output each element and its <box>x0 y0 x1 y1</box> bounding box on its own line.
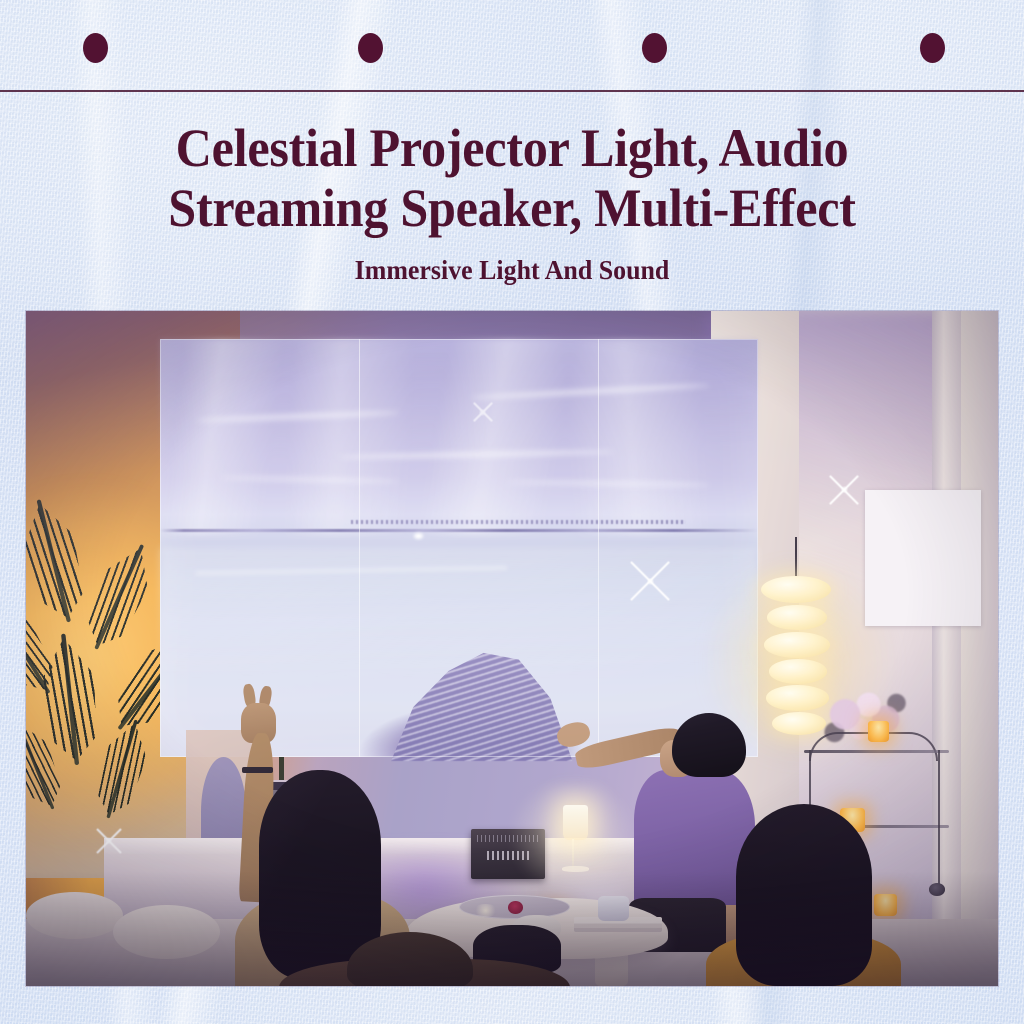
page-background: Celestial Projector Light, Audio Streami… <box>0 0 1024 1024</box>
product-lifestyle-photo <box>26 311 998 986</box>
decorative-dot-icon-1 <box>83 33 108 63</box>
header-divider-rule <box>0 90 1024 92</box>
page-subtitle: Immersive Light And Sound <box>20 254 1003 286</box>
photo-vignette <box>26 311 998 986</box>
header-block: Celestial Projector Light, Audio Streami… <box>0 118 1024 286</box>
decorative-dot-icon-3 <box>642 33 667 63</box>
top-decorative-band <box>0 0 1024 92</box>
photo-scene <box>26 311 998 986</box>
page-title: Celestial Projector Light, Audio Streami… <box>36 118 988 238</box>
decorative-dot-icon-2 <box>358 33 383 63</box>
decorative-dot-icon-4 <box>920 33 945 63</box>
